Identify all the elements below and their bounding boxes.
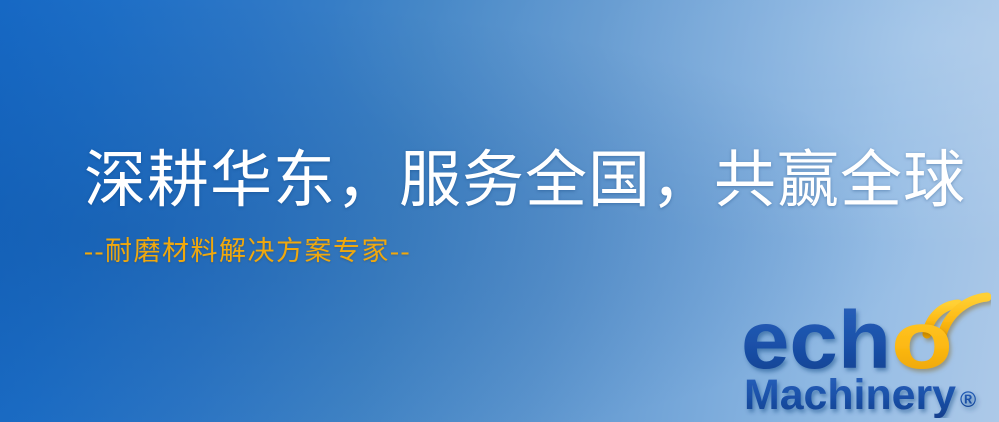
- logo-tagline: Machinery ®: [744, 371, 976, 418]
- svg-text:®: ®: [960, 387, 976, 412]
- hero-banner: 深耕华东，服务全国，共赢全球 --耐磨材料解决方案专家--: [0, 0, 999, 422]
- svg-text:Machinery: Machinery: [744, 371, 956, 418]
- banner-headline: 深耕华东，服务全国，共赢全球: [84, 148, 966, 215]
- echo-machinery-logo: ech o Machinery ®: [741, 292, 991, 418]
- banner-text-block: 深耕华东，服务全国，共赢全球 --耐磨材料解决方案专家--: [84, 148, 966, 267]
- banner-subtitle: --耐磨材料解决方案专家--: [84, 237, 966, 267]
